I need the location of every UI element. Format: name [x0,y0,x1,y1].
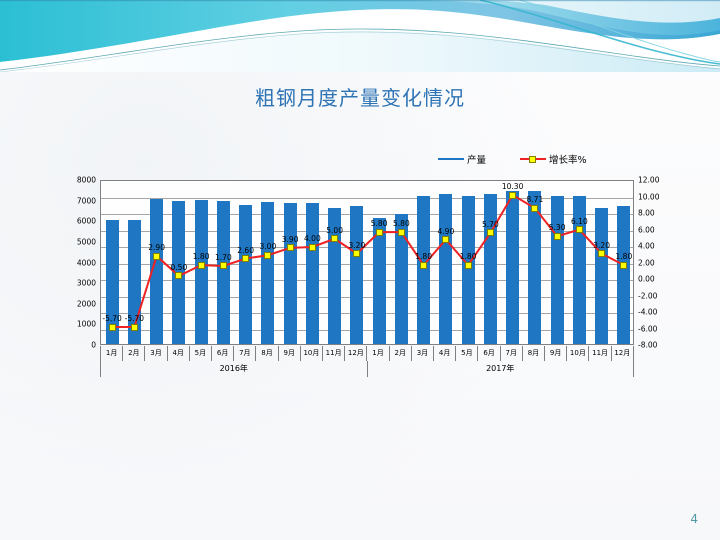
data-point-marker [175,272,182,279]
data-label: 4.00 [304,234,321,243]
plot-area: -5.70-5.702.900.501.801.702.603.003.904.… [100,180,634,345]
y-axis-left-tick: 5000 [56,237,96,246]
y-axis-left-tick: 0 [56,341,96,350]
data-point-marker [287,244,294,251]
x-axis-tick: 5月 [456,346,478,361]
data-point-marker [198,262,205,269]
plot-wrapper: 010002000300040005000600070008000 -8.00-… [58,172,678,400]
y-axis-right-tick: -2.00 [638,291,682,300]
x-axis-tick: 11月 [323,346,345,361]
y-axis-left-tick: 6000 [56,217,96,226]
x-axis-tick: 8月 [523,346,545,361]
legend-item-production: 产量 [438,152,486,166]
data-point-marker [487,229,494,236]
y-axis-right-tick: 4.00 [638,242,682,251]
legend-swatch-line-icon [438,154,464,164]
x-axis-tick: 3月 [145,346,167,361]
page-number: 4 [690,512,698,526]
data-label: 4.90 [438,227,455,236]
data-label: 1.80 [193,252,210,261]
x-axis-tick: 9月 [545,346,567,361]
legend-swatch-line-marker-icon [520,154,546,164]
y-axis-left-tick: 4000 [56,258,96,267]
data-label: 3.90 [282,235,299,244]
y-axis-right-tick: 0.00 [638,275,682,284]
y-axis-left-tick: 3000 [56,279,96,288]
legend-label-growth-rate: 增长率% [549,152,587,166]
x-axis-tick: 3月 [412,346,434,361]
data-point-marker [465,262,472,269]
data-point-marker [554,233,561,240]
y-axis-right-tick: -6.00 [638,324,682,333]
x-axis-tick: 7月 [501,346,523,361]
data-label: 6.10 [571,217,588,226]
data-point-marker [442,236,449,243]
x-axis-tick: 2月 [390,346,412,361]
data-label: 8.71 [527,195,544,204]
data-point-marker [576,226,583,233]
y-axis-left-tick: 1000 [56,320,96,329]
y-axis-right-tick: 2.00 [638,258,682,267]
x-axis-tick: 12月 [345,346,367,361]
chart-legend: 产量 增长率% [438,150,668,168]
data-point-marker [153,253,160,260]
y-axis-left-tick: 8000 [56,176,96,185]
x-axis-group-label: 2016年 [101,361,368,377]
x-axis-tick: 4月 [434,346,456,361]
x-axis-year-groups: 2016年2017年 [100,361,634,377]
x-axis-tick: 2月 [123,346,145,361]
data-label: -5.70 [125,314,144,323]
data-label: 1.80 [616,252,633,261]
x-axis-tick: 10月 [567,346,589,361]
data-point-marker [109,324,116,331]
x-axis-tick: 8月 [256,346,278,361]
data-point-marker [353,250,360,257]
header-wave-svg [0,0,720,72]
data-label: 5.00 [326,226,343,235]
data-point-marker [531,205,538,212]
data-point-marker [509,192,516,199]
x-axis-tick: 10月 [301,346,323,361]
data-label: 1.80 [460,252,477,261]
x-axis-tick: 6月 [478,346,500,361]
data-point-marker [309,244,316,251]
data-point-marker [376,229,383,236]
y-axis-left-tick: 7000 [56,196,96,205]
y-axis-right-tick: 8.00 [638,209,682,218]
data-label: 0.50 [171,263,188,272]
slide: 粗钢月度产量变化情况 产量 增长率% 010002000300040005000… [0,0,720,540]
x-axis-group-label: 2017年 [368,361,635,377]
x-axis-month-labels: 1月2月3月4月5月6月7月8月9月10月11月12月1月2月3月4月5月6月7… [100,346,634,361]
y-axis-left-tick: 2000 [56,299,96,308]
data-label: 10.30 [502,182,523,191]
y-axis-right-tick: 6.00 [638,225,682,234]
data-label: 1.80 [415,252,432,261]
data-point-marker [331,235,338,242]
x-axis-tick: 1月 [367,346,389,361]
x-axis-tick: 1月 [101,346,123,361]
data-point-marker [598,250,605,257]
growth-rate-polyline [112,195,624,327]
x-axis-tick: 12月 [612,346,634,361]
x-axis-tick: 4月 [168,346,190,361]
x-axis-tick: 9月 [279,346,301,361]
y-axis-right-tick: -8.00 [638,341,682,350]
x-axis-tick: 5月 [190,346,212,361]
data-point-marker [131,324,138,331]
page-title: 粗钢月度产量变化情况 [0,82,720,111]
data-label: 2.90 [148,243,165,252]
chart-container: 产量 增长率% 01000200030004000500060007000800… [58,140,678,400]
data-label: 5.80 [371,219,388,228]
data-label: 2.60 [237,246,254,255]
x-axis-tick: 7月 [234,346,256,361]
data-label: 3.20 [593,241,610,250]
data-point-marker [420,262,427,269]
legend-item-growth-rate: 增长率% [520,152,587,166]
data-point-marker [242,255,249,262]
data-label: 5.70 [482,220,499,229]
data-point-marker [620,262,627,269]
data-label: 5.80 [393,219,410,228]
data-label: 1.70 [215,253,232,262]
header-wave-decoration [0,0,720,72]
data-label: 3.20 [349,241,366,250]
y-axis-right-tick: 12.00 [638,176,682,185]
data-label: 5.30 [549,223,566,232]
data-label: 3.00 [260,242,277,251]
data-point-marker [264,252,271,259]
data-point-marker [220,262,227,269]
data-point-marker [398,229,405,236]
y-axis-right-tick: 10.00 [638,192,682,201]
data-label: -5.70 [102,314,121,323]
y-axis-right-tick: -4.00 [638,308,682,317]
x-axis-tick: 6月 [212,346,234,361]
x-axis-tick: 11月 [589,346,611,361]
legend-label-production: 产量 [467,152,486,166]
